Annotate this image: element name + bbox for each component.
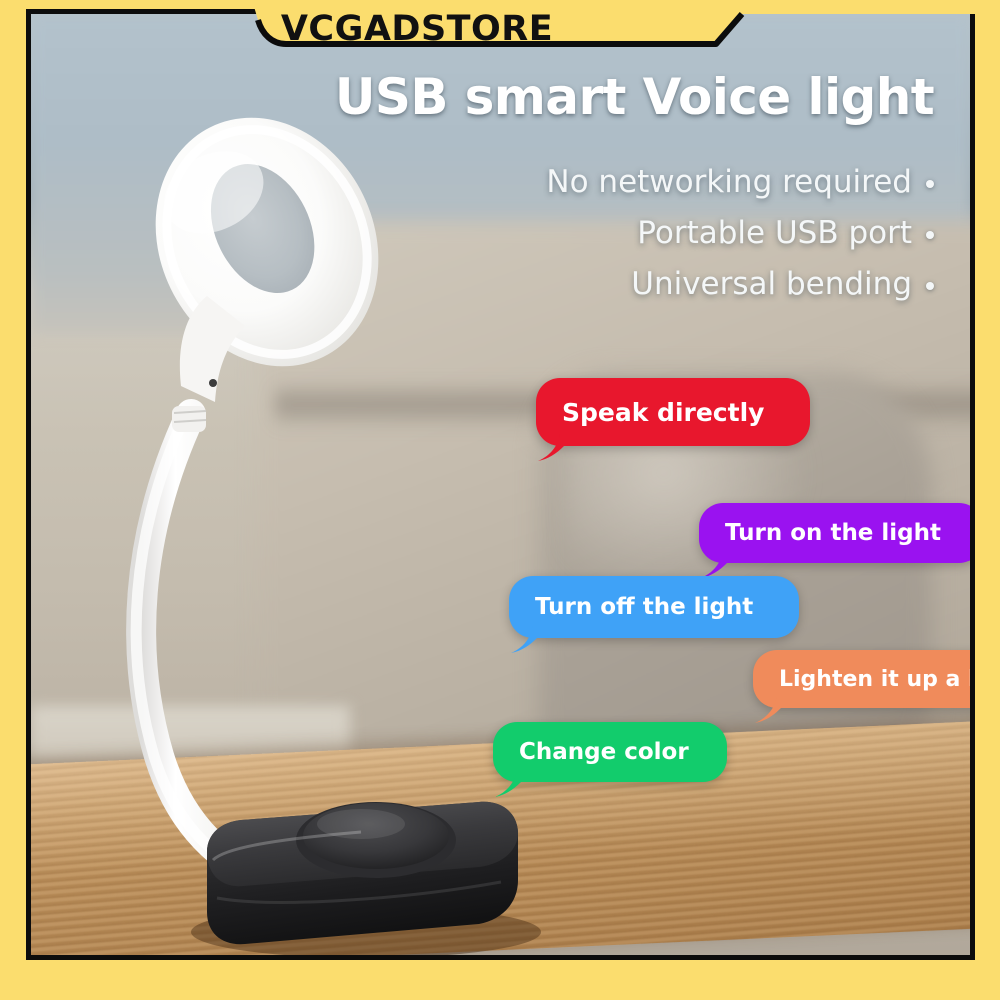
bubble-label: Turn off the light — [535, 594, 753, 620]
bullet-dot-icon — [926, 231, 934, 239]
feature-list: No networking required Portable USB port… — [546, 157, 934, 310]
brand-name: VCGADSTORE — [0, 9, 917, 49]
feature-item: No networking required — [546, 157, 934, 208]
bubble-tail — [701, 551, 731, 579]
bubble-tail — [495, 770, 525, 798]
product-poster: Speak directly Turn on the light Turn of… — [0, 0, 1000, 1000]
bubble-tail — [538, 434, 568, 462]
voice-bubble-turn-off-the-light[interactable]: Turn off the light — [509, 576, 799, 638]
bubble-tail — [755, 696, 785, 724]
feature-label: Portable USB port — [637, 215, 912, 251]
product-photo: Speak directly Turn on the light Turn of… — [26, 9, 975, 960]
voice-bubble-turn-on-the-light[interactable]: Turn on the light — [699, 503, 975, 563]
feature-label: Universal bending — [631, 266, 912, 302]
bubble-label: Lighten it up a bit — [779, 667, 975, 692]
bubble-label: Change color — [519, 739, 689, 765]
feature-item: Portable USB port — [546, 208, 934, 259]
feature-item: Universal bending — [546, 259, 934, 310]
feature-label: No networking required — [546, 164, 912, 200]
bullet-dot-icon — [926, 282, 934, 290]
bubble-label: Turn on the light — [725, 520, 941, 546]
bubble-label: Speak directly — [562, 398, 764, 427]
bullet-dot-icon — [926, 180, 934, 188]
page-title: USB smart Voice light — [31, 71, 960, 123]
voice-bubble-speak-directly[interactable]: Speak directly — [536, 378, 810, 446]
voice-bubble-lighten-it-up-a-bit[interactable]: Lighten it up a bit — [753, 650, 975, 708]
bubble-tail — [511, 626, 541, 654]
voice-bubble-change-color[interactable]: Change color — [493, 722, 727, 782]
